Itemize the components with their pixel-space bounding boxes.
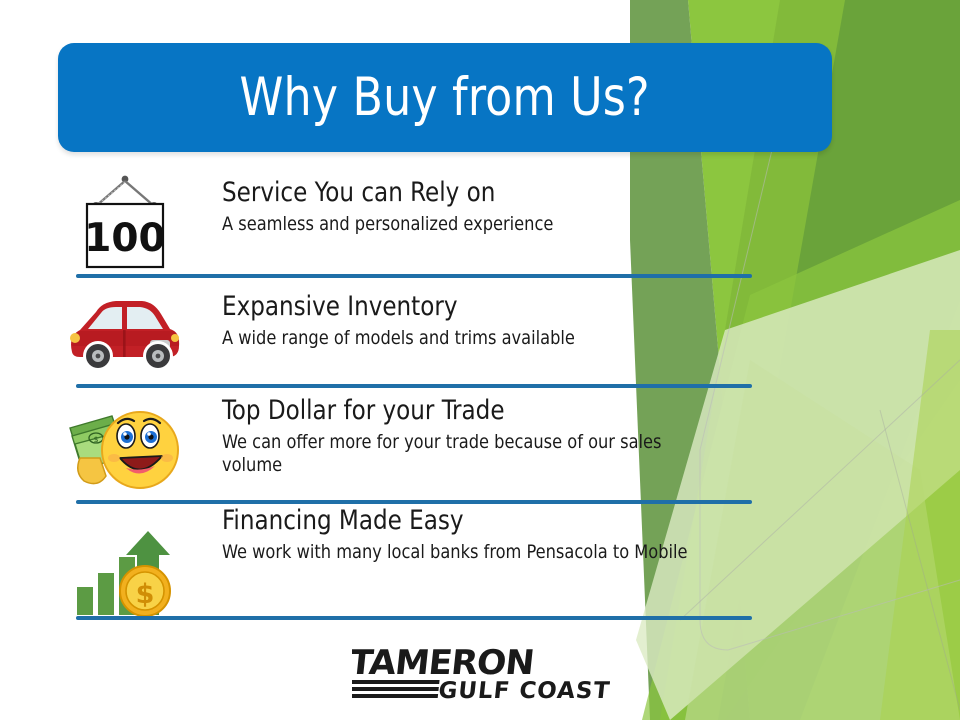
sign-value: 100 xyxy=(84,216,165,261)
logo-wordmark: TAMERON xyxy=(352,643,535,682)
benefit-row-service: 100 Service You can Rely on A seamless a… xyxy=(0,168,800,278)
money-smiley-icon-glyph: $ xyxy=(66,402,184,494)
benefit-title: Financing Made Easy xyxy=(222,506,735,536)
benefits-list: 100 Service You can Rely on A seamless a… xyxy=(0,168,800,620)
svg-text:$: $ xyxy=(93,435,98,444)
benefit-text-trade: Top Dollar for your Trade We can offer m… xyxy=(222,388,762,478)
benefit-description: A seamless and personalized experience xyxy=(222,213,735,236)
growth-chart-coin-icon-glyph: $ xyxy=(73,529,177,617)
red-car-icon-glyph xyxy=(63,292,187,376)
benefit-description: A wide range of models and trims availab… xyxy=(222,327,735,350)
benefit-text-service: Service You can Rely on A seamless and p… xyxy=(222,168,762,236)
title-banner: Why Buy from Us? xyxy=(58,43,832,152)
benefit-description: We work with many local banks from Pensa… xyxy=(222,541,697,564)
benefit-description: We can offer more for your trade because… xyxy=(222,431,716,477)
benefit-divider xyxy=(76,616,752,620)
benefit-text-inventory: Expansive Inventory A wide range of mode… xyxy=(222,278,762,350)
red-car-icon xyxy=(60,292,190,376)
slide-canvas: Why Buy from Us? 100 Service You can Rel… xyxy=(0,0,960,720)
tameron-logo-glyph: TAMERON GULF COAST xyxy=(352,638,610,710)
benefit-row-financing: $ Financing Made Easy We work with many … xyxy=(0,504,800,620)
page-title: Why Buy from Us? xyxy=(240,71,650,124)
benefit-text-financing: Financing Made Easy We work with many lo… xyxy=(222,504,762,564)
benefit-row-trade: $ xyxy=(0,388,800,504)
logo-speed-lines xyxy=(352,680,440,698)
dollar-sign: $ xyxy=(136,579,155,610)
benefit-title: Top Dollar for your Trade xyxy=(222,396,735,426)
hanging-sign-100-icon: 100 xyxy=(60,172,190,272)
logo-subtitle: GULF COAST xyxy=(437,678,610,704)
money-smiley-icon: $ xyxy=(60,402,190,494)
tameron-gulf-coast-logo: TAMERON GULF COAST xyxy=(352,638,610,710)
benefit-row-inventory: Expansive Inventory A wide range of mode… xyxy=(0,278,800,388)
hanging-sign-100-icon-glyph: 100 xyxy=(82,174,168,270)
benefit-title: Expansive Inventory xyxy=(222,292,735,322)
growth-chart-coin-icon: $ xyxy=(60,528,190,618)
benefit-title: Service You can Rely on xyxy=(222,178,735,208)
